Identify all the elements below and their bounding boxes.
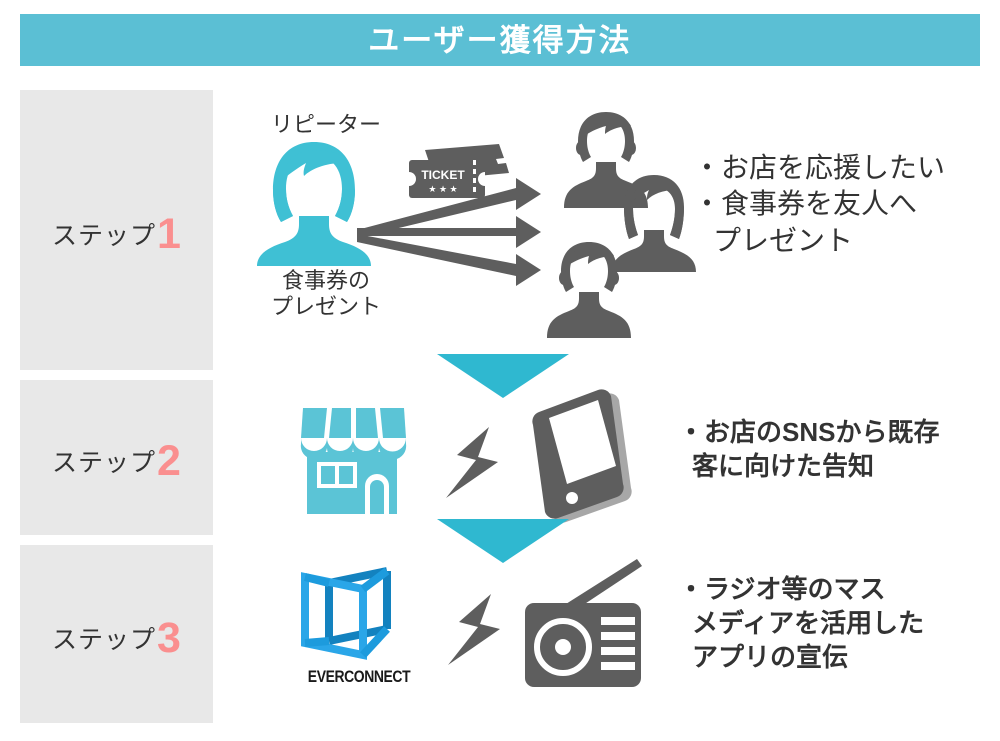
step-2-label-word: ステップ [52,443,156,479]
step-row-1: ステップ 1 リピーター 食事券の プレゼント [20,90,980,370]
step-2-label-panel: ステップ 2 [20,380,213,535]
everconnect-cube-logo-icon: EVERCONNECT [291,563,427,695]
step-3-label: ステップ 3 [52,613,181,656]
step-3-content: EVERCONNECT [213,545,980,723]
step-3-label-panel: ステップ 3 [20,545,213,723]
connector-step2-to-step3 [437,519,569,563]
step-row-2: ステップ 2 [20,380,980,535]
step-3-label-number: 3 [157,617,181,660]
three-arrows-icon [353,172,543,292]
step-1-bullet-list: ・お店を応援したい ・食事券を友人へ プレゼント [693,150,945,259]
lightning-bolt-icon [445,591,513,669]
shop-icon [297,404,407,514]
step-1-label-number: 1 [157,213,181,256]
page-title: ユーザー獲得方法 [368,25,631,56]
step-1-caption-repeater: リピーター [226,112,426,138]
step-1-label-word: ステップ [52,216,156,252]
step-1-bullet-2: プレゼント [693,223,945,259]
step-3-bullet-list: ・ラジオ等のマス メディアを活用した アプリの宣伝 [678,573,924,674]
step-2-bullet-list: ・お店のSNSから既存 客に向けた告知 [678,416,939,484]
step-3-bullet-2: アプリの宣伝 [678,641,924,675]
step-3-bullet-0: ・ラジオ等のマス [678,573,924,607]
step-3-label-word: ステップ [52,620,156,656]
step-2-content: ・お店のSNSから既存 客に向けた告知 [213,380,980,535]
step-1-bullet-0: ・お店を応援したい [693,150,945,186]
step-2-label-number: 2 [157,440,181,483]
step-row-3: ステップ 3 [20,545,980,723]
person-male-bottom-icon [543,238,635,338]
step-1-content: リピーター 食事券の プレゼント [213,90,980,370]
step-1-caption-gift-line2: プレゼント [226,294,426,320]
step-1-label: ステップ 1 [52,209,181,252]
step-3-bullet-1: メディアを活用した [678,607,924,641]
step-2-bullet-0: ・お店のSNSから既存 [678,416,939,450]
step-2-label: ステップ 2 [52,436,181,479]
radio-icon [513,557,653,691]
page-title-bar: ユーザー獲得方法 [20,14,980,66]
smartphone-icon [513,388,633,528]
step-2-bullet-1: 客に向けた告知 [678,450,939,484]
step-1-bullet-1: ・食事券を友人へ [693,186,945,222]
everconnect-wordmark: EVERCONNECT [303,667,415,687]
lightning-bolt-icon [443,424,511,502]
connector-step1-to-step2 [437,354,569,398]
step-1-label-panel: ステップ 1 [20,90,213,370]
